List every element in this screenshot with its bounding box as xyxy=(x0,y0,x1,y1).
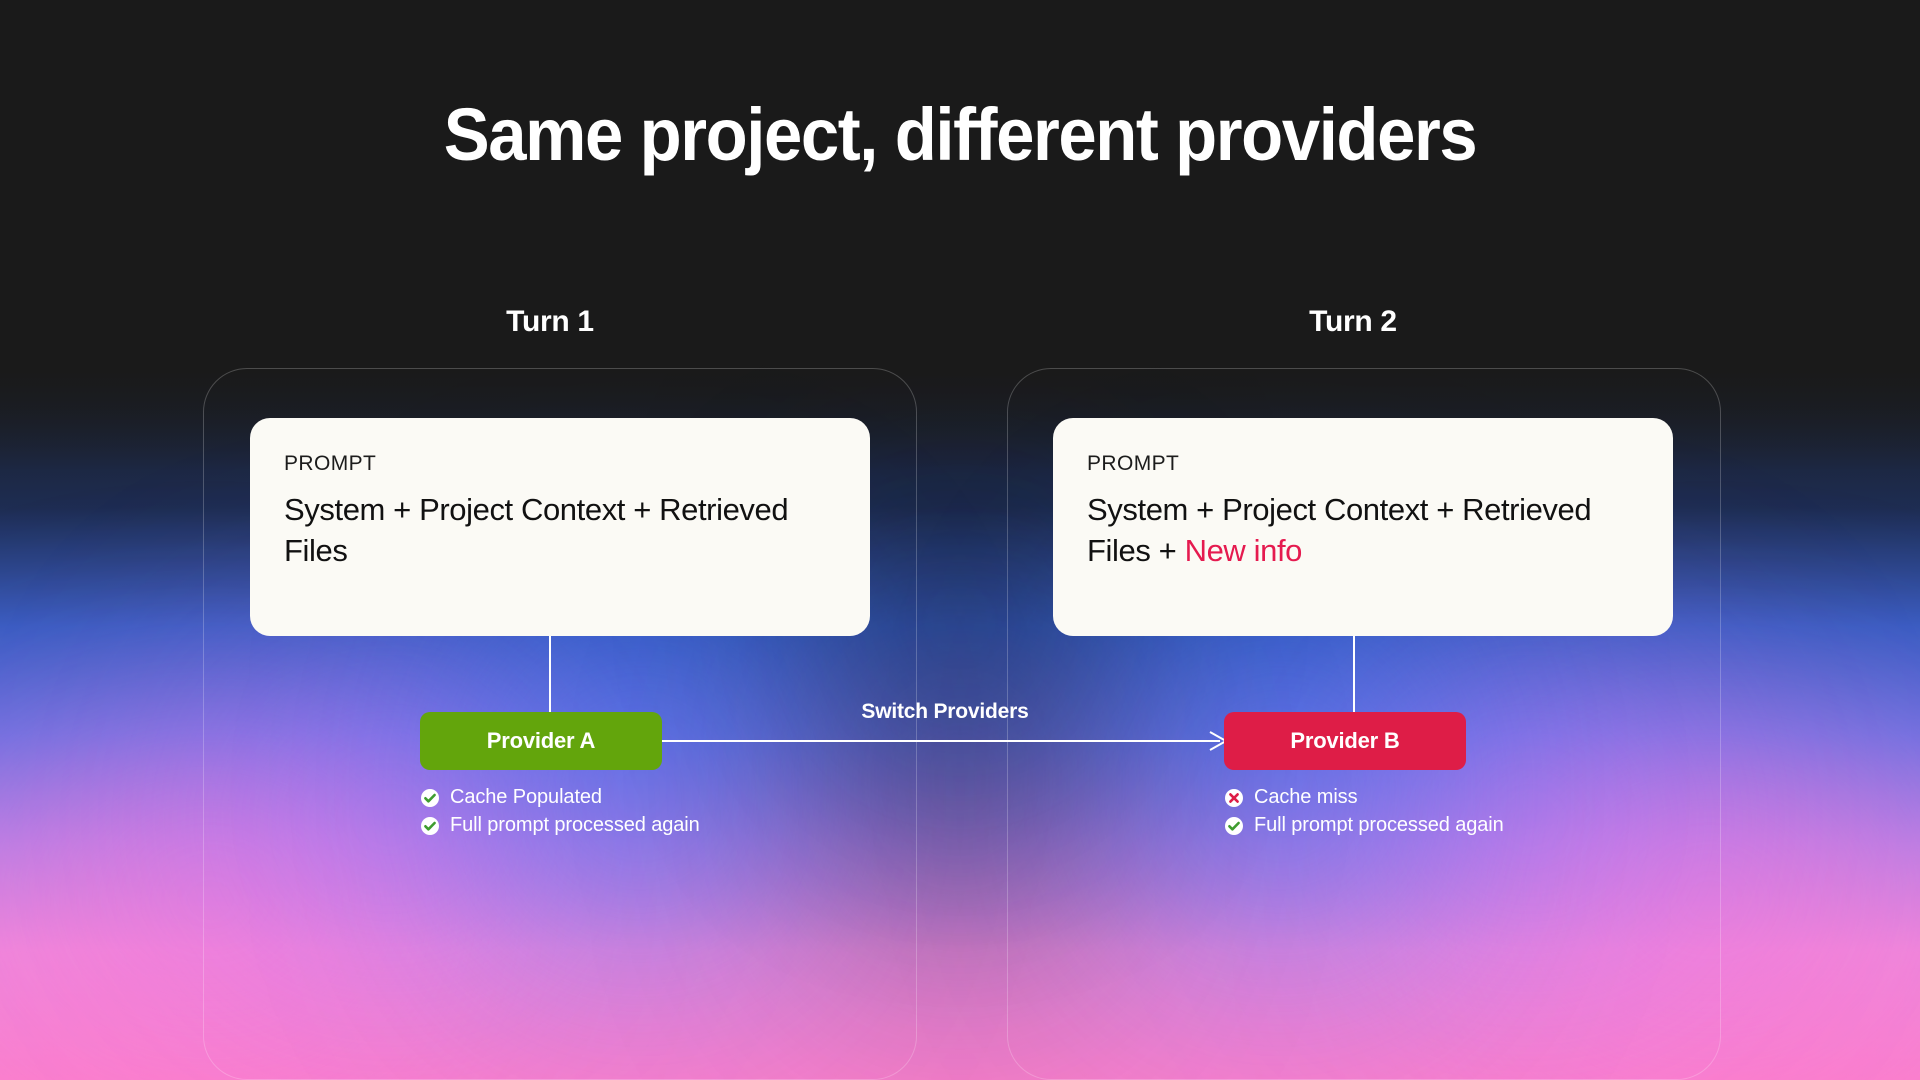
status-text: Full prompt processed again xyxy=(1254,814,1504,837)
prompt-body-2: System + Project Context + Retrieved Fil… xyxy=(1087,490,1639,572)
provider-b-pill[interactable]: Provider B xyxy=(1224,712,1466,770)
prompt-body-1: System + Project Context + Retrieved Fil… xyxy=(284,490,836,572)
provider-a-pill[interactable]: Provider A xyxy=(420,712,662,770)
status-row: Cache miss xyxy=(1224,786,1644,809)
check-circle-icon xyxy=(420,816,440,836)
prompt-kicker-2: PROMPT xyxy=(1087,452,1639,476)
provider-a-label: Provider A xyxy=(487,728,595,754)
page-title: Same project, different providers xyxy=(67,96,1853,174)
prompt-card-turn-2: PROMPT System + Project Context + Retrie… xyxy=(1053,418,1673,636)
status-row: Cache Populated xyxy=(420,786,840,809)
x-circle-icon xyxy=(1224,788,1244,808)
status-text: Full prompt processed again xyxy=(450,814,700,837)
provider-b-label: Provider B xyxy=(1290,728,1399,754)
status-text: Cache Populated xyxy=(450,786,602,809)
switch-providers-label: Switch Providers xyxy=(660,700,1230,724)
turn-label-1: Turn 1 xyxy=(400,305,700,339)
status-list-provider-a: Cache Populated Full prompt processed ag… xyxy=(420,786,840,842)
check-circle-icon xyxy=(420,788,440,808)
status-row: Full prompt processed again xyxy=(1224,814,1644,837)
prompt-text-plain-2: System + Project Context + Retrieved Fil… xyxy=(1087,492,1591,568)
status-row: Full prompt processed again xyxy=(420,814,840,837)
check-circle-icon xyxy=(1224,816,1244,836)
switch-providers-arrow-icon xyxy=(660,724,1230,758)
prompt-text-plain-1: System + Project Context + Retrieved Fil… xyxy=(284,492,788,568)
prompt-kicker-1: PROMPT xyxy=(284,452,836,476)
turn-label-2: Turn 2 xyxy=(1203,305,1503,339)
status-list-provider-b: Cache miss Full prompt processed again xyxy=(1224,786,1644,842)
prompt-card-turn-1: PROMPT System + Project Context + Retrie… xyxy=(250,418,870,636)
status-text: Cache miss xyxy=(1254,786,1357,809)
prompt-text-highlight-2: New info xyxy=(1185,533,1302,568)
